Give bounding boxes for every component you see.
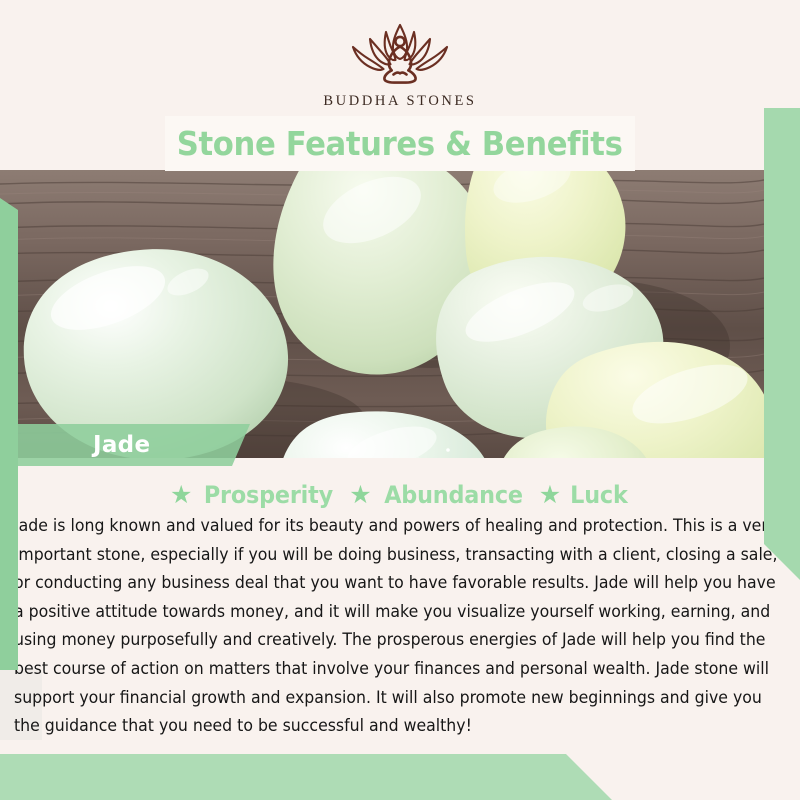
poster-canvas: BUDDHA STONES Stone Features & Benefits <box>0 0 800 800</box>
keyword-item-luck: ★ Luck <box>539 481 630 509</box>
jade-stones-photo <box>0 170 764 458</box>
stone-name-badge: Jade <box>18 424 250 466</box>
keyword-label: Abundance <box>384 481 523 509</box>
keyword-label: Prosperity <box>204 481 333 509</box>
star-icon: ★ <box>349 483 371 508</box>
keyword-item-abundance: ★ Abundance <box>349 481 528 509</box>
lotus-meditation-icon <box>326 22 474 86</box>
page-title-panel: Stone Features & Benefits <box>165 116 635 171</box>
description-text: Jade is long known and valued for its be… <box>14 512 785 741</box>
keyword-item-prosperity: ★ Prosperity <box>170 481 338 509</box>
description-panel: Jade is long known and valued for its be… <box>14 512 786 741</box>
decorative-band-right <box>764 108 800 580</box>
star-icon: ★ <box>170 483 192 508</box>
keyword-list: ★ Prosperity ★ Abundance ★ Luck <box>0 480 800 510</box>
jade-stones-illustration <box>0 170 764 458</box>
star-icon: ★ <box>539 483 561 508</box>
brand-logo: BUDDHA STONES <box>0 22 800 110</box>
decorative-band-left <box>0 198 18 670</box>
page-title: Stone Features & Benefits <box>177 124 623 163</box>
keyword-label: Luck <box>570 481 627 509</box>
decorative-band-bottom <box>0 754 612 800</box>
brand-name: BUDDHA STONES <box>323 93 476 110</box>
stone-name-label: Jade <box>93 432 150 458</box>
